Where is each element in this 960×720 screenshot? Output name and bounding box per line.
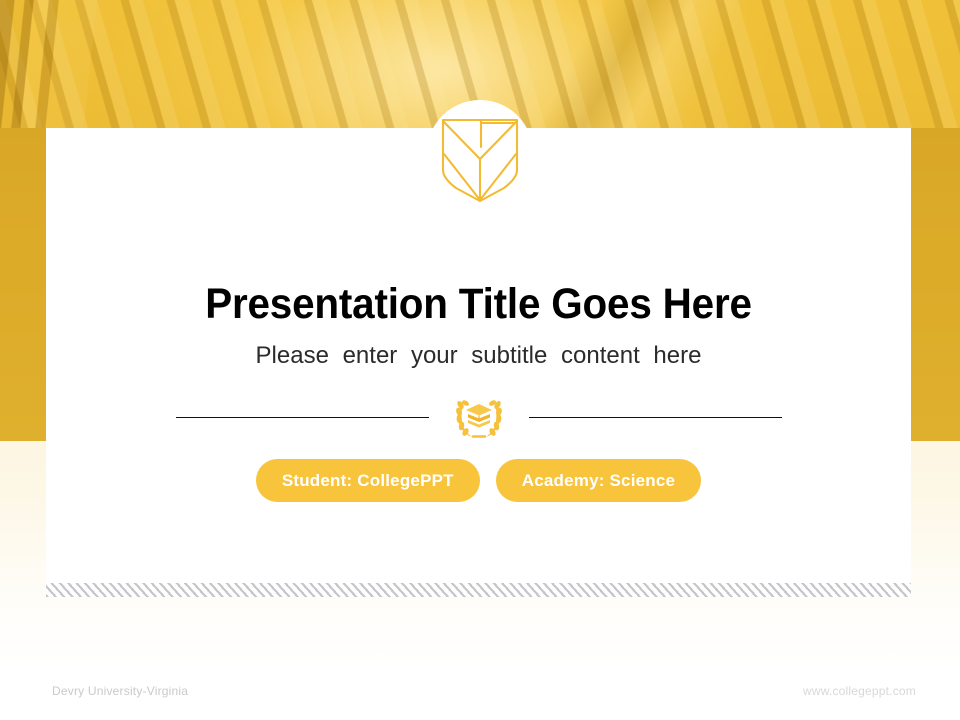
title-divider xyxy=(46,395,911,439)
presentation-slide: Presentation Title Goes Here Please ente… xyxy=(0,0,960,720)
banner-left-column xyxy=(0,128,46,441)
slide-subtitle: Please enter your subtitle content here xyxy=(46,340,911,372)
student-tag-button[interactable]: Student: CollegePPT xyxy=(256,459,480,502)
laurel-graduation-cap-emblem-icon xyxy=(451,395,507,439)
divider-rule-right xyxy=(529,417,782,418)
slide-title: Presentation Title Goes Here xyxy=(72,276,885,332)
divider-rule-left xyxy=(176,417,429,418)
academy-tag-button[interactable]: Academy: Science xyxy=(496,459,701,502)
shield-crest-logo-icon xyxy=(438,114,522,202)
meta-tag-row: Student: CollegePPT Academy: Science xyxy=(46,459,911,502)
banner-right-column xyxy=(911,128,960,441)
footer-institution: Devry University-Virginia xyxy=(52,684,188,698)
card-bottom-hatch-strip xyxy=(46,583,911,597)
footer-website: www.collegeppt.com xyxy=(803,684,916,698)
